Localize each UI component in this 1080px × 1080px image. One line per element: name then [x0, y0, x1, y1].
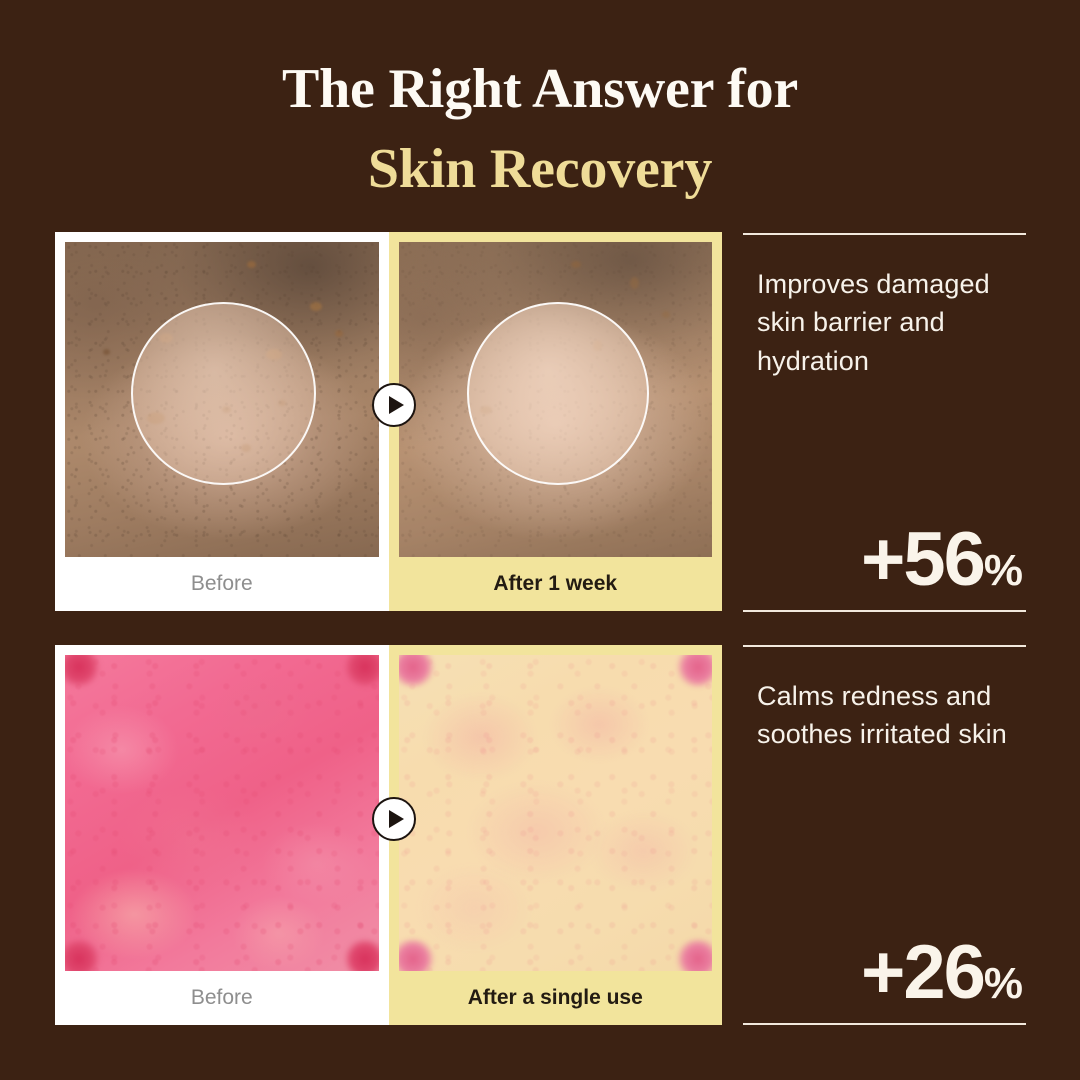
pigment-spot [335, 330, 343, 337]
pigment-spot [310, 302, 322, 311]
benefit-block-1: Improves damaged skin barrier and hydrat… [743, 233, 1026, 612]
benefit-rule-bottom [743, 1023, 1026, 1025]
before-panel-1: Before [55, 232, 389, 611]
after-caption-1: After 1 week [399, 557, 713, 611]
redness-speckle-overlay [65, 655, 379, 971]
headline-line-2: Skin Recovery [0, 136, 1080, 202]
play-icon[interactable] [372, 797, 416, 841]
page-title: The Right Answer for Skin Recovery [0, 56, 1080, 202]
before-caption-2: Before [65, 971, 379, 1025]
after-photo-skin-macro [399, 242, 713, 557]
benefit-text-1: Improves damaged skin barrier and hydrat… [757, 265, 1012, 380]
highlight-circle-ring [467, 302, 649, 485]
benefit-rule-bottom [743, 610, 1026, 612]
after-caption-2: After a single use [399, 971, 713, 1025]
stat-unit-1: % [984, 546, 1022, 595]
pigment-spot [103, 349, 110, 355]
before-photo-redness-map [65, 655, 379, 971]
stat-number-1: +56 [861, 517, 984, 602]
after-panel-1: After 1 week [389, 232, 723, 611]
highlight-circle-ring [131, 302, 316, 485]
before-caption-1: Before [65, 557, 379, 611]
play-triangle-glyph [389, 396, 404, 414]
benefit-stat-1: +56% [757, 524, 1026, 596]
benefit-text-2: Calms redness and soothes irritated skin [757, 677, 1012, 754]
pigment-spot [247, 261, 256, 268]
headline-line-1: The Right Answer for [0, 56, 1080, 122]
before-panel-2: Before [55, 645, 389, 1025]
stat-unit-2: % [984, 959, 1022, 1008]
before-photo-skin-macro [65, 242, 379, 557]
play-triangle-glyph [389, 810, 404, 828]
after-photo-redness-map [399, 655, 713, 971]
redness-speckle-overlay [399, 655, 713, 971]
after-panel-2: After a single use [389, 645, 723, 1025]
benefit-block-2: Calms redness and soothes irritated skin… [743, 645, 1026, 1025]
play-icon[interactable] [372, 383, 416, 427]
stat-number-2: +26 [861, 930, 984, 1015]
benefit-stat-2: +26% [757, 937, 1026, 1009]
pigment-spot [571, 261, 581, 268]
